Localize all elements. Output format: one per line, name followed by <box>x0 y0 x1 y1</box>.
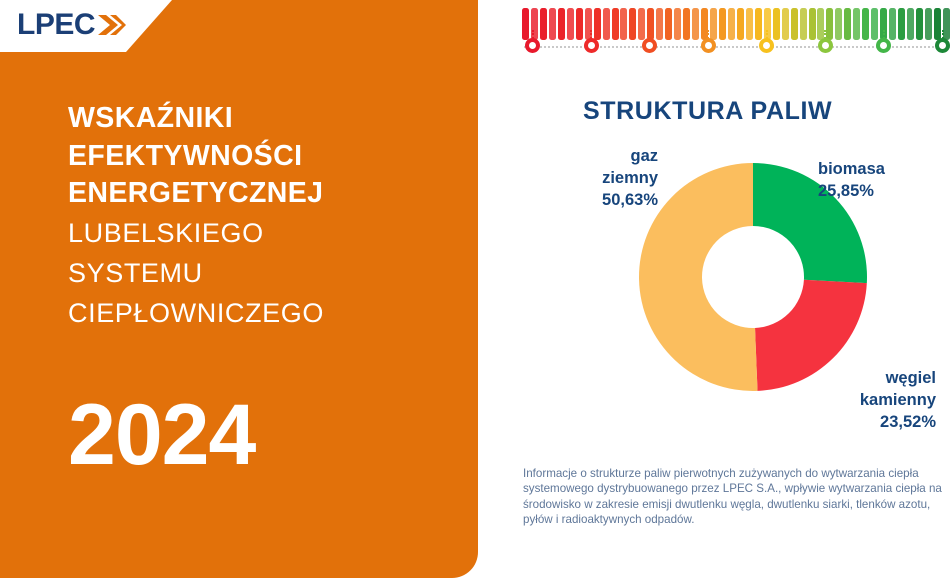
scale-tick <box>907 8 914 40</box>
scale-tick <box>934 8 941 40</box>
pie-label-gaz-ziemny-name-1: gaz <box>558 145 658 167</box>
scale-tick <box>710 8 717 40</box>
headline-line-6: CIEPŁOWNICZEGO <box>68 293 468 333</box>
pie-label-wegiel-kamienny-value: 23,52% <box>826 411 936 433</box>
scale-tick <box>943 8 950 40</box>
scale-tick <box>862 8 869 40</box>
scale-tick <box>755 8 762 40</box>
pie-label-wegiel-kamienny: węgiel kamienny 23,52% <box>826 367 936 433</box>
orange-panel: LPEC WSKAŹNIKI EFEKTYWNOŚCI ENERGETYCZNE… <box>0 0 478 578</box>
headline-line-1: WSKAŹNIKI <box>68 100 468 138</box>
headline-block: WSKAŹNIKI EFEKTYWNOŚCI ENERGETYCZNEJ LUB… <box>68 100 468 333</box>
scale-marker <box>876 38 891 53</box>
scale-tick <box>782 8 789 40</box>
scale-marker <box>701 38 716 53</box>
scale-tick <box>549 8 556 40</box>
scale-tick <box>638 8 645 40</box>
scale-tick <box>612 8 619 40</box>
headline-line-2: EFEKTYWNOŚCI <box>68 138 468 176</box>
pie-label-biomasa-value: 25,85% <box>818 180 938 202</box>
scale-tick <box>603 8 610 40</box>
scale-tick <box>898 8 905 40</box>
scale-tick <box>835 8 842 40</box>
scale-tick <box>826 8 833 40</box>
pie-label-wegiel-kamienny-name-2: kamienny <box>826 389 936 411</box>
headline-line-3: ENERGETYCZNEJ <box>68 175 468 213</box>
scale-tick <box>853 8 860 40</box>
scale-tick <box>889 8 896 40</box>
pie-label-wegiel-kamienny-name-1: węgiel <box>826 367 936 389</box>
scale-tick <box>871 8 878 40</box>
scale-tick <box>540 8 547 40</box>
pie-label-gaz-ziemny-value: 50,63% <box>558 189 658 211</box>
lpec-logo[interactable]: LPEC <box>17 8 126 42</box>
scale-markers <box>522 38 950 56</box>
pie-label-biomasa-name: biomasa <box>818 158 938 180</box>
pie-label-gaz-ziemny-name-2: ziemny <box>558 167 658 189</box>
scale-tick <box>692 8 699 40</box>
scale-tick <box>925 8 932 40</box>
scale-tick <box>620 8 627 40</box>
scale-tick <box>773 8 780 40</box>
chart-title: STRUKTURA PALIW <box>583 97 832 126</box>
pie-label-biomasa: biomasa 25,85% <box>818 158 938 202</box>
scale-tick <box>746 8 753 40</box>
headline-line-4: LUBELSKIEGO <box>68 213 468 253</box>
scale-marker <box>759 38 774 53</box>
scale-marker <box>642 38 657 53</box>
scale-tick <box>800 8 807 40</box>
scale-tick <box>576 8 583 40</box>
chevron-right-icon <box>96 12 126 38</box>
poster-page: LPEC WSKAŹNIKI EFEKTYWNOŚCI ENERGETYCZNE… <box>0 0 950 587</box>
scale-tick <box>629 8 636 40</box>
logo-wordmark: LPEC <box>17 10 95 40</box>
scale-tick <box>809 8 816 40</box>
scale-tick <box>916 8 923 40</box>
scale-tick <box>674 8 681 40</box>
footnote-text: Informacje o strukturze paliw pierwotnyc… <box>523 466 943 527</box>
year-label: 2024 <box>68 392 255 478</box>
scale-tick <box>737 8 744 40</box>
scale-tick <box>683 8 690 40</box>
scale-marker <box>935 38 950 53</box>
scale-marker <box>584 38 599 53</box>
scale-tick <box>791 8 798 40</box>
pie-label-gaz-ziemny: gaz ziemny 50,63% <box>558 145 658 211</box>
scale-tick <box>656 8 663 40</box>
headline-line-5: SYSTEMU <box>68 253 468 293</box>
scale-tick <box>522 8 529 40</box>
scale-tick <box>594 8 601 40</box>
gradient-scale-bar <box>522 8 950 40</box>
scale-tick <box>728 8 735 40</box>
scale-tick <box>558 8 565 40</box>
scale-tick <box>567 8 574 40</box>
scale-marker <box>818 38 833 53</box>
scale-tick <box>844 8 851 40</box>
scale-tick <box>719 8 726 40</box>
scale-marker <box>525 38 540 53</box>
scale-tick <box>665 8 672 40</box>
